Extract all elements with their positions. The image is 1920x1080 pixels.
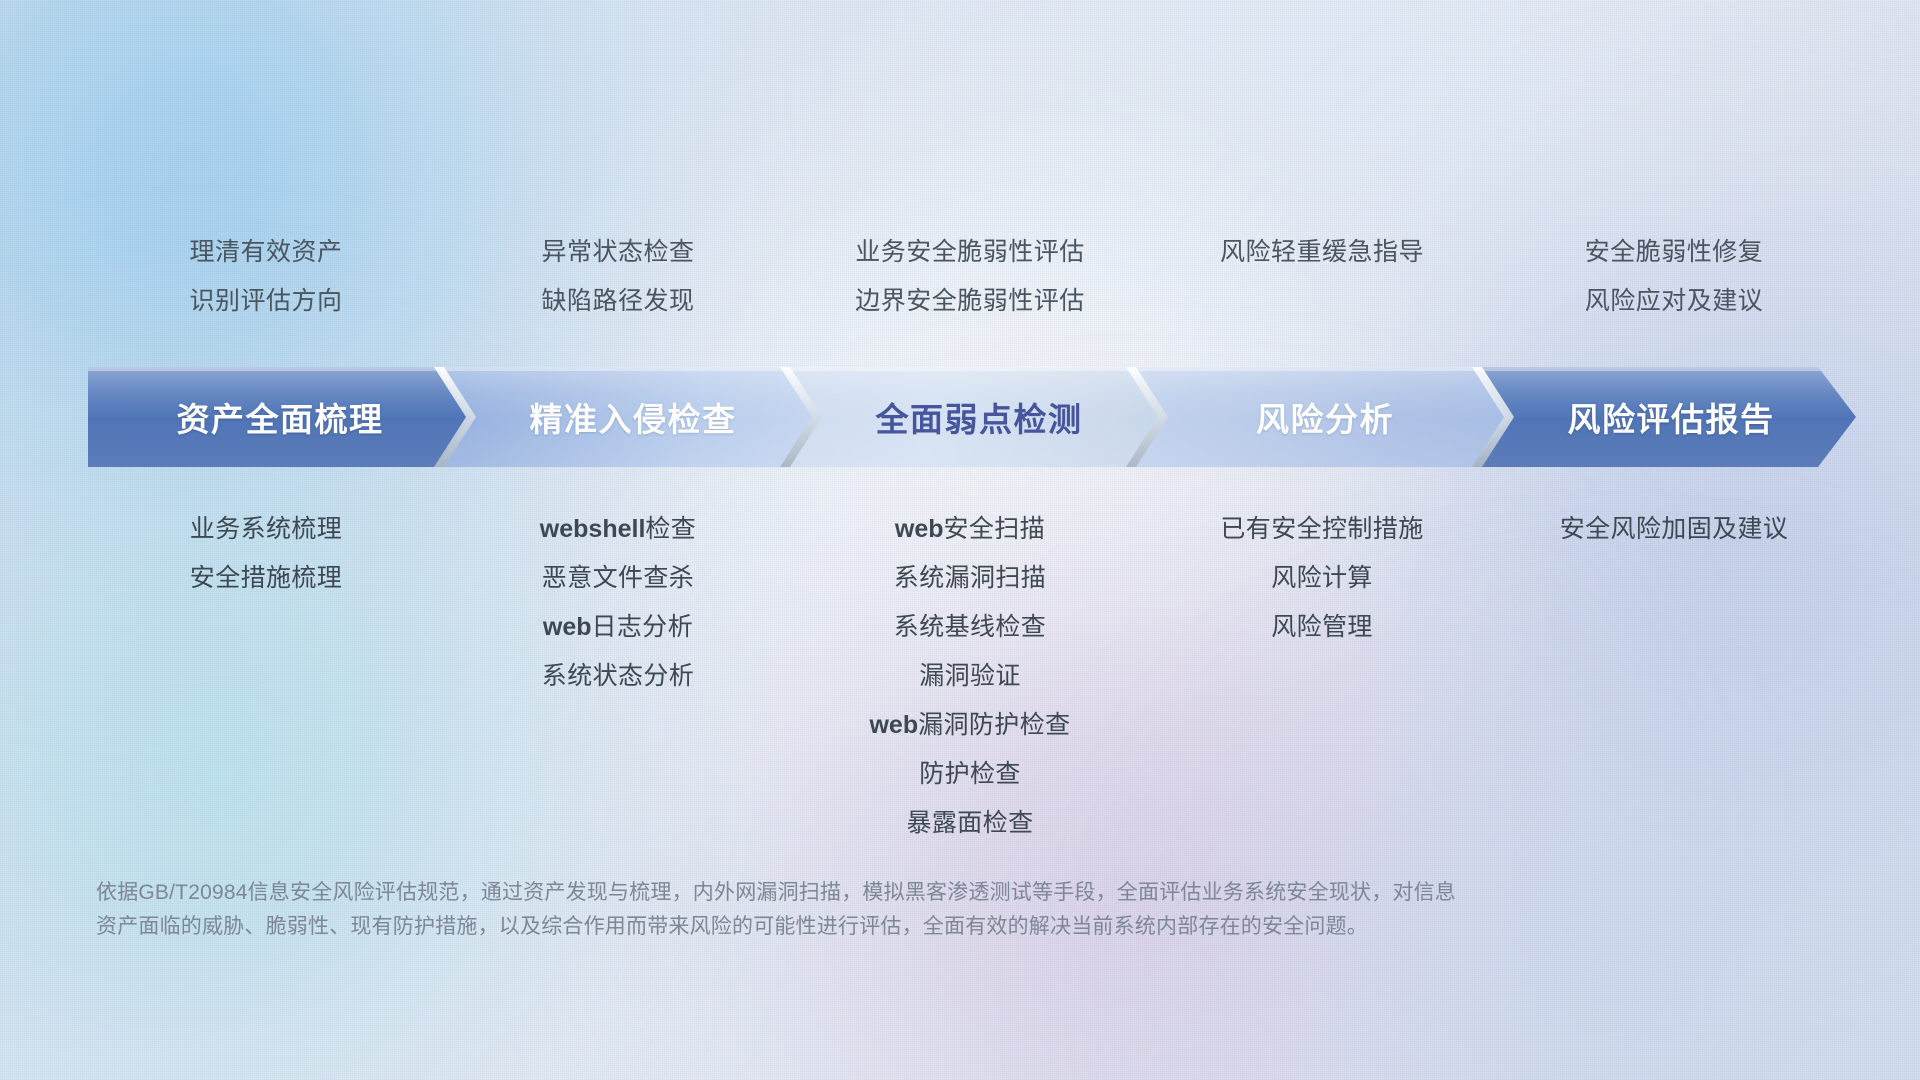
stage-item: 防护检查 (919, 750, 1021, 799)
top-notes-stage-3: 业务安全脆弱性评估边界安全脆弱性评估 (794, 228, 1146, 326)
stage-title: 风险分析 (1242, 393, 1394, 441)
footer-line-2: 资产面临的威胁、脆弱性、现有防护措施，以及综合作用而带来风险的可能性进行评估，全… (96, 910, 1736, 944)
items-stage-1: 业务系统梳理安全措施梳理 (90, 505, 442, 848)
top-note: 边界安全脆弱性评估 (855, 277, 1085, 326)
stage-item: 风险管理 (1271, 603, 1373, 652)
stage-title: 风险评估报告 (1554, 393, 1775, 441)
items-stage-4: 已有安全控制措施风险计算风险管理 (1146, 505, 1498, 848)
top-notes-stage-2: 异常状态检查缺陷路径发现 (442, 228, 794, 326)
stage-item: 系统基线检查 (894, 603, 1046, 652)
top-notes-stage-4: 风险轻重缓急指导 (1146, 228, 1498, 326)
process-diagram: 理清有效资产识别评估方向 异常状态检查缺陷路径发现 业务安全脆弱性评估边界安全脆… (0, 0, 1920, 1080)
stage-item: 恶意文件查杀 (542, 554, 694, 603)
top-note: 风险应对及建议 (1585, 277, 1764, 326)
top-note: 安全脆弱性修复 (1585, 228, 1764, 277)
top-note: 风险轻重缓急指导 (1220, 228, 1424, 277)
top-notes-stage-1: 理清有效资产识别评估方向 (90, 228, 442, 326)
stage-item: webshell检查 (540, 505, 696, 554)
process-stage-4[interactable]: 风险分析 (1126, 367, 1510, 467)
stage-item: 暴露面检查 (906, 799, 1033, 848)
process-stage-3[interactable]: 全面弱点检测 (780, 367, 1164, 467)
stage-item: web安全扫描 (895, 505, 1045, 554)
top-note: 异常状态检查 (541, 228, 694, 277)
items-stage-3: web安全扫描系统漏洞扫描系统基线检查漏洞验证web漏洞防护检查防护检查暴露面检… (794, 505, 1146, 848)
stage-item: 风险计算 (1271, 554, 1373, 603)
top-note: 识别评估方向 (189, 277, 342, 326)
stage-item: web漏洞防护检查 (869, 701, 1070, 750)
items-stage-5: 安全风险加固及建议 (1498, 505, 1850, 848)
process-stage-1[interactable]: 资产全面梳理 (88, 367, 472, 467)
stage-item: 系统状态分析 (542, 652, 694, 701)
stage-item: web日志分析 (543, 603, 693, 652)
process-stage-2[interactable]: 精准入侵检查 (434, 367, 818, 467)
stage-item: 安全风险加固及建议 (1560, 505, 1789, 554)
stage-title: 精准入侵检查 (516, 393, 737, 441)
items-stage-2: webshell检查恶意文件查杀web日志分析系统状态分析 (442, 505, 794, 848)
top-note: 缺陷路径发现 (541, 277, 694, 326)
process-chevron-banner: 资产全面梳理精准入侵检查全面弱点检测风险分析风险评估报告 (88, 367, 1856, 467)
top-note: 业务安全脆弱性评估 (855, 228, 1085, 277)
footer-line-1: 依据GB/T20984信息安全风险评估规范，通过资产发现与梳理，内外网漏洞扫描，… (96, 876, 1736, 910)
top-notes-stage-5: 安全脆弱性修复风险应对及建议 (1498, 228, 1850, 326)
top-note: 理清有效资产 (189, 228, 342, 277)
stage-title: 全面弱点检测 (862, 393, 1083, 441)
top-notes-row: 理清有效资产识别评估方向 异常状态检查缺陷路径发现 业务安全脆弱性评估边界安全脆… (90, 228, 1850, 326)
bottom-items-row: 业务系统梳理安全措施梳理 webshell检查恶意文件查杀web日志分析系统状态… (90, 505, 1850, 848)
stage-item: 安全措施梳理 (190, 554, 342, 603)
stage-item: 业务系统梳理 (190, 505, 342, 554)
stage-item: 已有安全控制措施 (1220, 505, 1423, 554)
stage-title: 资产全面梳理 (177, 393, 384, 441)
stage-item: 漏洞验证 (919, 652, 1021, 701)
stage-item: 系统漏洞扫描 (894, 554, 1046, 603)
footer-description: 依据GB/T20984信息安全风险评估规范，通过资产发现与梳理，内外网漏洞扫描，… (96, 876, 1736, 944)
process-stage-5[interactable]: 风险评估报告 (1472, 367, 1856, 467)
